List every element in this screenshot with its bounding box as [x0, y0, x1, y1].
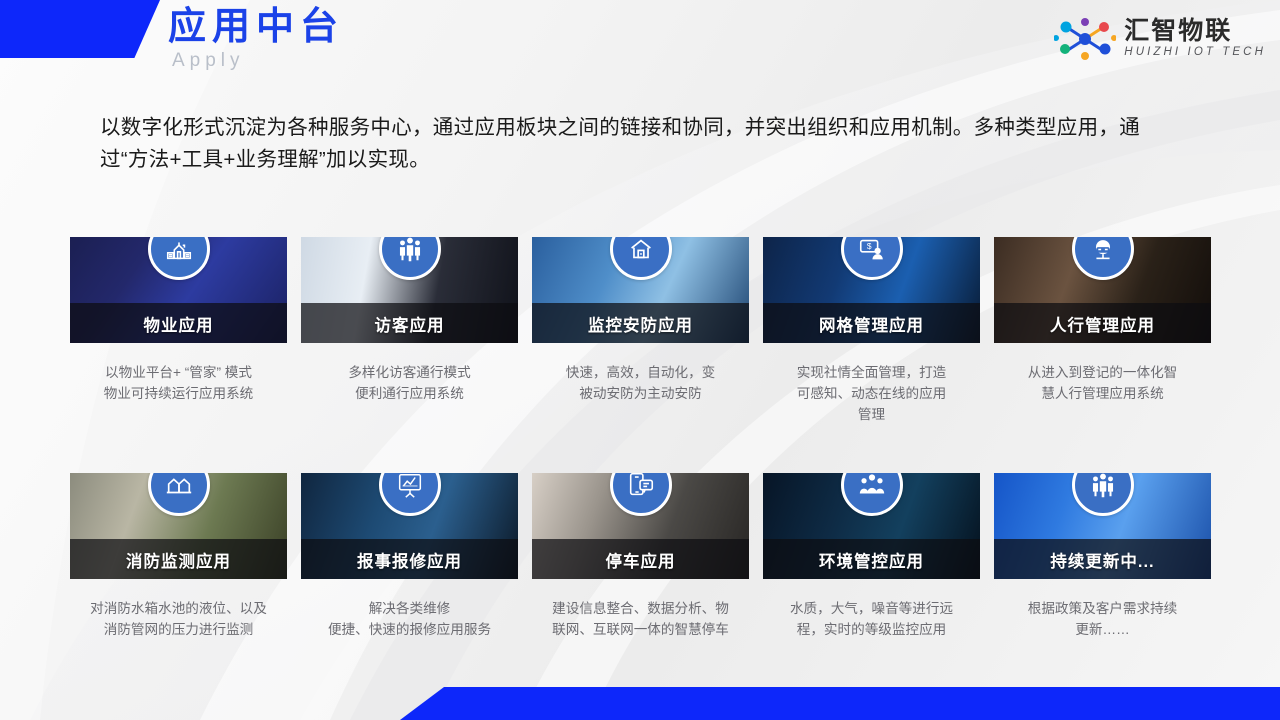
card-description-line: 快速，高效，自动化，变 [532, 362, 749, 383]
card-description-line: 程，实时的等级监控应用 [763, 619, 980, 640]
app-card[interactable]: 物业应用以物业平台+ “管家” 模式物业可持续运行应用系统 [70, 237, 287, 425]
app-card[interactable]: 停车应用建设信息整合、数据分析、物联网、互联网一体的智慧停车 [532, 473, 749, 640]
card-description: 水质，大气，噪音等进行远程，实时的等级监控应用 [763, 598, 980, 640]
app-card[interactable]: 持续更新中...根据政策及客户需求持续更新…… [994, 473, 1211, 640]
card-title: 人行管理应用 [994, 312, 1211, 336]
app-card[interactable]: 人行管理应用从进入到登记的一体化智慧人行管理应用系统 [994, 237, 1211, 425]
card-description-line: 慧人行管理应用系统 [994, 383, 1211, 404]
card-description-line: 建设信息整合、数据分析、物 [532, 598, 749, 619]
card-description-line: 消防管网的压力进行监测 [70, 619, 287, 640]
card-thumbnail: 监控安防应用 [532, 237, 749, 343]
card-thumbnail: 人行管理应用 [994, 237, 1211, 343]
card-description-line: 水质，大气，噪音等进行远 [763, 598, 980, 619]
card-description-line: 联网、互联网一体的智慧停车 [532, 619, 749, 640]
card-thumbnail: 物业应用 [70, 237, 287, 343]
page-subtitle: Apply [172, 50, 245, 72]
app-card[interactable]: 环境管控应用水质，大气，噪音等进行远程，实时的等级监控应用 [763, 473, 980, 640]
card-description-line: 更新…… [994, 619, 1211, 640]
card-description-line: 以物业平台+ “管家” 模式 [70, 362, 287, 383]
card-thumbnail: 访客应用 [301, 237, 518, 343]
card-description: 建设信息整合、数据分析、物联网、互联网一体的智慧停车 [532, 598, 749, 640]
card-title: 持续更新中... [994, 548, 1211, 572]
app-card[interactable]: 网格管理应用$实现社情全面管理，打造可感知、动态在线的应用管理 [763, 237, 980, 425]
card-description: 根据政策及客户需求持续更新…… [994, 598, 1211, 640]
intro-paragraph: 以数字化形式沉淀为各种服务中心，通过应用板块之间的链接和协同，并突出组织和应用机… [100, 112, 1170, 176]
page-title: 应用中台 [168, 4, 344, 50]
card-row-2: 消防监测应用对消防水箱水池的液位、以及消防管网的压力进行监测报事报修应用解决各类… [70, 473, 1213, 640]
card-description: 快速，高效，自动化，变被动安防为主动安防 [532, 362, 749, 404]
card-description-line: 便利通行应用系统 [301, 383, 518, 404]
card-description-line: 管理 [763, 404, 980, 425]
card-description-line: 实现社情全面管理，打造 [763, 362, 980, 383]
svg-text:$: $ [866, 241, 871, 251]
app-card[interactable]: 监控安防应用快速，高效，自动化，变被动安防为主动安防 [532, 237, 749, 425]
card-thumbnail: 环境管控应用 [763, 473, 980, 579]
card-description-line: 解决各类维修 [301, 598, 518, 619]
card-description-line: 便捷、快速的报修应用服务 [301, 619, 518, 640]
card-description-line: 对消防水箱水池的液位、以及 [70, 598, 287, 619]
card-title: 监控安防应用 [532, 312, 749, 336]
card-description-line: 可感知、动态在线的应用 [763, 383, 980, 404]
app-card[interactable]: 访客应用多样化访客通行模式便利通行应用系统 [301, 237, 518, 425]
footer-decoration [0, 687, 1280, 720]
card-title: 访客应用 [301, 312, 518, 336]
card-thumbnail: 消防监测应用 [70, 473, 287, 579]
card-description-line: 被动安防为主动安防 [532, 383, 749, 404]
card-thumbnail: 网格管理应用$ [763, 237, 980, 343]
card-title: 报事报修应用 [301, 548, 518, 572]
logo-english-name: HUIZHI IOT TECH [1124, 45, 1266, 60]
card-title: 消防监测应用 [70, 548, 287, 572]
footer-accent-shape [400, 687, 1280, 720]
card-description-line: 多样化访客通行模式 [301, 362, 518, 383]
card-title: 物业应用 [70, 312, 287, 336]
card-description-line: 从进入到登记的一体化智 [994, 362, 1211, 383]
card-thumbnail: 报事报修应用 [301, 473, 518, 579]
card-description: 解决各类维修便捷、快速的报修应用服务 [301, 598, 518, 640]
card-description: 实现社情全面管理，打造可感知、动态在线的应用管理 [763, 362, 980, 425]
brand-logo: 汇智物联 HUIZHI IOT TECH [1054, 16, 1266, 62]
card-description: 对消防水箱水池的液位、以及消防管网的压力进行监测 [70, 598, 287, 640]
logo-chinese-name: 汇智物联 [1124, 18, 1232, 45]
card-description-line: 根据政策及客户需求持续 [994, 598, 1211, 619]
molecule-network-icon [1054, 16, 1116, 62]
card-row-1: 物业应用以物业平台+ “管家” 模式物业可持续运行应用系统访客应用多样化访客通行… [70, 237, 1213, 425]
card-description: 从进入到登记的一体化智慧人行管理应用系统 [994, 362, 1211, 404]
app-card[interactable]: 报事报修应用解决各类维修便捷、快速的报修应用服务 [301, 473, 518, 640]
card-thumbnail: 停车应用 [532, 473, 749, 579]
header-accent-shape [0, 0, 160, 58]
card-description-line: 物业可持续运行应用系统 [70, 383, 287, 404]
app-card[interactable]: 消防监测应用对消防水箱水池的液位、以及消防管网的压力进行监测 [70, 473, 287, 640]
card-title: 停车应用 [532, 548, 749, 572]
card-thumbnail: 持续更新中... [994, 473, 1211, 579]
card-title: 环境管控应用 [763, 548, 980, 572]
card-description: 以物业平台+ “管家” 模式物业可持续运行应用系统 [70, 362, 287, 404]
card-title: 网格管理应用 [763, 312, 980, 336]
card-description: 多样化访客通行模式便利通行应用系统 [301, 362, 518, 404]
